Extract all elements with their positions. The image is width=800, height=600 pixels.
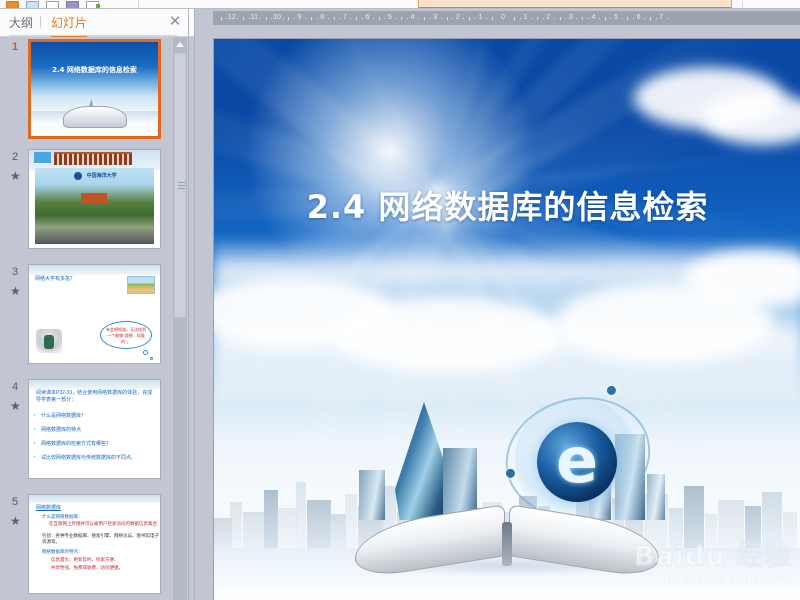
ruler-tick [283, 18, 284, 19]
panel-scrollbar[interactable] [173, 37, 187, 600]
thumb2-blue-block [34, 152, 51, 163]
ruler-tick [221, 17, 222, 20]
tab-outline[interactable]: 大纲 [9, 14, 33, 35]
slide-number: 2 [12, 151, 18, 163]
ruler-tick [362, 18, 363, 19]
skyline-building [264, 490, 278, 552]
ruler-tick [622, 18, 623, 19]
ruler-tick [288, 17, 289, 20]
ruler-tick [271, 18, 272, 19]
ruler-tick-label: 1 [478, 14, 482, 22]
ruler-tick [379, 17, 380, 20]
ruler-tick [260, 18, 261, 19]
skyline-building [277, 508, 297, 552]
ruler-tick [599, 18, 600, 19]
ruler-tick [565, 18, 566, 19]
slide-thumbnail-5[interactable]: 网络数据库 什么是网络数据库： 在互联网上存储并可以被用户检索访问的数据信息集合… [28, 494, 161, 594]
thumb3-image [127, 276, 155, 294]
theme-icon[interactable] [66, 1, 79, 9]
thumb4-title: 阅读课本P32-33，结合使用网络数据库的体验，完成导学表第一部分： [36, 390, 153, 404]
skyline-building [307, 500, 331, 552]
skyline-building [330, 514, 346, 552]
slides-panel: 大纲 | 幻灯片 ✕ 1 2.4 网络数据库的信息检索 [0, 9, 195, 600]
ruler-tick [633, 18, 634, 19]
thumb5-bullet: 在互联网上存储并可以被用户检索访问的数据信息集合 [49, 521, 157, 527]
ruler-tick [305, 18, 306, 19]
ruler-tick [447, 17, 448, 20]
globe-letter: e [537, 422, 617, 502]
tab-divider: | [39, 14, 42, 32]
list-item[interactable]: 4 ★ 阅读课本P32-33，结合使用网络数据库的体验，完成导学表第一部分： 什… [0, 377, 173, 492]
ruler-tick [350, 18, 351, 19]
ruler-tick-label: 3 [433, 14, 437, 22]
ruler-tick [582, 17, 583, 20]
ruler-tick [492, 17, 493, 20]
ruler-tick-label: 1 [524, 14, 528, 22]
close-icon[interactable]: ✕ [168, 15, 182, 29]
skyline-building [230, 502, 242, 552]
ruler-tick [243, 17, 244, 20]
watermark: Baidu 经验 jingyan.baidu.com [602, 534, 792, 592]
slide-thumbnail-4[interactable]: 阅读课本P32-33，结合使用网络数据库的体验，完成导学表第一部分： 什么是网络… [28, 379, 161, 479]
slide-title[interactable]: 2.4 网络数据库的信息检索 [214, 182, 800, 228]
ruler-tick [560, 17, 561, 20]
thumb3-bubble-dot1 [143, 350, 148, 355]
ribbon-toolbar [0, 0, 800, 9]
thumb5-bullet: 信息量大、更新及时、检索方便、 [51, 557, 119, 563]
ruler-tick [328, 18, 329, 19]
thumb5-header [29, 495, 160, 503]
scroll-up-arrow-icon[interactable] [173, 37, 187, 51]
ruler-tick [605, 17, 606, 20]
ruler-tick-label: 9 [298, 14, 302, 22]
thumb3-person-image [36, 329, 62, 353]
slide-canvas[interactable]: 2.4 网络数据库的信息检索 e [213, 38, 800, 600]
ruler-tick-label: 4 [411, 14, 415, 22]
thumb4-bullet: 什么是网络数据库？ [41, 412, 86, 419]
thumb4-bullet: 网络数据库的检索方式有哪些？ [41, 440, 111, 447]
slide-thumbnail-1[interactable]: 2.4 网络数据库的信息检索 [28, 39, 161, 139]
ruler-tick [226, 18, 227, 19]
scrollbar-thumb[interactable] [174, 53, 186, 318]
thumb5-title: 网络数据库 [36, 504, 61, 511]
book-spine [502, 522, 512, 566]
thumb3-bubble-dot2 [150, 357, 153, 360]
skyline-building [296, 482, 306, 552]
ruler-tick-label: 6 [637, 14, 641, 22]
list-item[interactable]: 5 ★ 网络数据库 什么是网络数据库： 在互联网上存储并可以被用户检索访问的数据… [0, 492, 173, 600]
thumb3-speech-bubble: 有会想知道，无法找到一个能够"我想…知道的"。 [100, 321, 152, 349]
thumb4-background: 阅读课本P32-33，结合使用网络数据库的体验，完成导学表第一部分： 什么是网络… [29, 380, 160, 478]
skyline-building [243, 512, 265, 552]
thumb1-title: 2.4 网络数据库的信息检索 [31, 65, 158, 75]
ruler-tick-label: 11 [251, 14, 258, 22]
ruler-tick-label: 2 [546, 14, 550, 22]
ruler-tick [418, 18, 419, 19]
ruler-tick [554, 18, 555, 19]
ruler-tick-label: 12 [228, 14, 236, 22]
ruler-tick [514, 17, 515, 20]
redo-icon[interactable] [122, 1, 131, 9]
section-icon[interactable] [46, 1, 59, 9]
ruler-tick [424, 17, 425, 20]
ruler-tick [317, 18, 318, 19]
ruler-tick [531, 18, 532, 19]
slide-number: 1 [12, 41, 18, 53]
align-icon[interactable] [352, 1, 361, 9]
ruler-tick [356, 17, 357, 20]
ruler-tick [588, 18, 589, 19]
orbit-dot-icon [505, 468, 516, 479]
ruler-tick [475, 18, 476, 19]
tab-slides[interactable]: 幻灯片 [51, 14, 87, 37]
thumb4-bullet: 网络数据库的特点 [41, 426, 81, 433]
ruler-tick [650, 17, 651, 20]
animation-star-icon[interactable]: ★ [10, 169, 24, 183]
panel-tabbar: 大纲 | 幻灯片 ✕ [0, 9, 195, 37]
scrollbar-grip-icon [178, 182, 185, 188]
animation-star-icon[interactable]: ★ [10, 399, 24, 413]
cloud [334, 297, 564, 373]
ruler-tick-label: 3 [569, 14, 573, 22]
ruler-tick-label: 5 [614, 14, 618, 22]
list-item[interactable]: 1 2.4 网络数据库的信息检索 [0, 37, 173, 147]
newslide-icon[interactable] [86, 1, 99, 9]
undo-icon[interactable] [106, 1, 115, 9]
thumb5-bullet: 什么是网络数据库： [42, 514, 83, 520]
thumb2-building-strip [54, 152, 132, 165]
watermark-url: jingyan.baidu.com [602, 573, 792, 588]
thumb5-bullet: 网络数据库的特点： [42, 549, 83, 555]
thumb4-bullet: 试比较网络数据库与传统数据库的不同点。 [41, 454, 136, 461]
ruler-tick-label: 5 [388, 14, 392, 22]
ruler-tick [486, 18, 487, 19]
ruler-tick [656, 18, 657, 19]
tabbar-underline [9, 35, 177, 36]
list-item[interactable]: 3 ★ 网络大学有多急？ 有会想知道，无法找到一个能够"我想…知道的"。 [0, 262, 173, 377]
ruler-tick [667, 18, 668, 19]
animation-star-icon[interactable]: ★ [10, 284, 24, 298]
animation-star-icon[interactable]: ★ [10, 514, 24, 528]
watermark-brand: Baidu 经验 [602, 534, 792, 573]
ruler-tick [237, 18, 238, 19]
thumb2-title: 中国海洋大学 [87, 172, 117, 179]
slide-number: 3 [12, 266, 18, 278]
ruler-tick-label: 0 [501, 14, 505, 22]
horizontal-ruler[interactable]: 01211109876543211234567 [213, 11, 800, 25]
slide-number: 5 [12, 496, 18, 508]
slide-editing-area[interactable]: 2.4 网络数据库的信息检索 e [195, 25, 800, 600]
toolbar-separator-right [742, 1, 743, 9]
ruler-tick [249, 18, 250, 19]
ruler-tick-label: 8 [320, 14, 324, 22]
ruler-tick [469, 17, 470, 20]
ruler-tick [627, 17, 628, 20]
ruler-tick [537, 17, 538, 20]
ruler-tick-label: 7 [659, 14, 663, 22]
ruler-tick-label: 10 [273, 14, 281, 22]
slide-number: 4 [12, 381, 18, 393]
thumb2-roof [81, 193, 107, 203]
ruler-tick [373, 18, 374, 19]
thumb1-background: 2.4 网络数据库的信息检索 [31, 42, 158, 136]
ruler-tick [520, 18, 521, 19]
university-logo-icon [74, 172, 82, 180]
ruler-tick [430, 18, 431, 19]
ruler-tick [644, 18, 645, 19]
thumb1-book-icon [63, 106, 127, 128]
format-icon[interactable] [6, 1, 19, 9]
ruler-tick [294, 18, 295, 19]
ruler-tick [396, 18, 397, 19]
ribbon-active-tab[interactable] [418, 0, 732, 9]
thumb5-bullet: 共享性强、免费或收费、访问便捷。 [51, 565, 123, 571]
ruler-tick [384, 18, 385, 19]
ruler-tick [610, 18, 611, 19]
ruler-tick [576, 18, 577, 19]
ruler-tick [441, 18, 442, 19]
thumb5-background: 网络数据库 什么是网络数据库： 在互联网上存储并可以被用户检索访问的数据信息集合… [29, 495, 160, 593]
thumb2-background: 中国海洋大学 [29, 150, 160, 248]
slide-thumbnail-list[interactable]: 1 2.4 网络数据库的信息检索 2 ★ [0, 37, 173, 600]
powerpoint-window: 大纲 | 幻灯片 ✕ 1 2.4 网络数据库的信息检索 [0, 0, 800, 600]
ruler-tick [543, 18, 544, 19]
ruler-tick [401, 17, 402, 20]
ruler-tick-label: 6 [365, 14, 369, 22]
ruler-tick [407, 18, 408, 19]
ruler-tick [311, 17, 312, 20]
thumb4-header [29, 380, 160, 389]
panel-divider [188, 9, 189, 600]
list-item[interactable]: 2 ★ 中国海洋大学 [0, 147, 173, 262]
thumb5-bullet: 包括：各种专业数据库、搜索引擎、网络论坛、图书馆电子资源等。 [42, 533, 160, 545]
thumb3-bubble-text: 有会想知道，无法找到一个能够"我想…知道的"。 [105, 327, 147, 345]
ruler-tick [339, 18, 340, 19]
thumb3-header [29, 265, 160, 275]
ruler-tick-label: 2 [456, 14, 460, 22]
slide-thumbnail-2[interactable]: 中国海洋大学 [28, 149, 161, 249]
thumb2-campus-photo [35, 168, 154, 244]
e-globe-icon: e [537, 422, 617, 502]
thumb3-title: 网络大学有多急？ [35, 275, 75, 282]
layout-icon[interactable] [26, 1, 39, 9]
ruler-tick [452, 18, 453, 19]
slide-thumbnail-3[interactable]: 网络大学有多急？ 有会想知道，无法找到一个能够"我想…知道的"。 [28, 264, 161, 364]
ruler-tick [334, 17, 335, 20]
thumb3-background: 网络大学有多急？ 有会想知道，无法找到一个能够"我想…知道的"。 [29, 265, 160, 363]
ruler-tick [463, 18, 464, 19]
ruler-tick-label: 4 [591, 14, 595, 22]
ruler-tick [266, 17, 267, 20]
ruler-tick-label: 7 [343, 14, 347, 22]
toolbar-separator [138, 1, 139, 9]
